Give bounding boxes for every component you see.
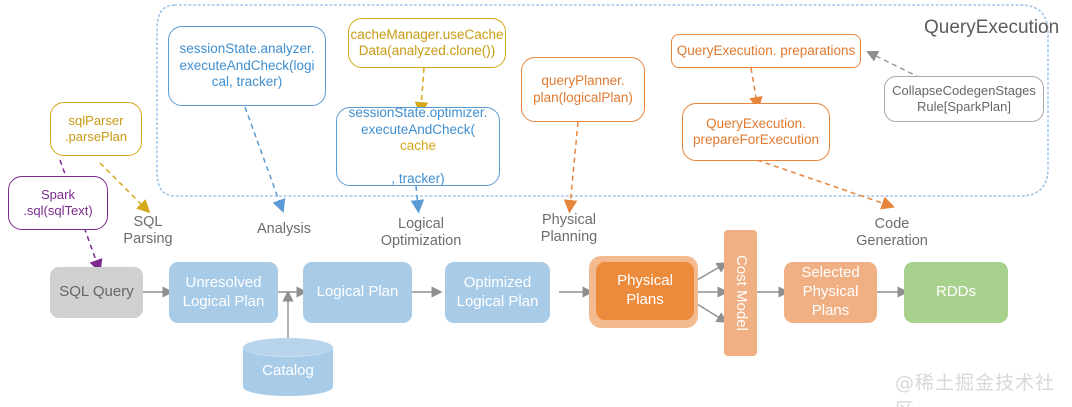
pipeline-box-selected-physical-plans-label: SelectedPhysicalPlans (801, 264, 859, 320)
pipeline-box-selected-physical-plans[interactable]: SelectedPhysicalPlans (784, 262, 877, 323)
catalog-cylinder-bottom (243, 378, 333, 396)
optimizer-callout[interactable]: sessionState.optimizer.executeAndCheck(c… (336, 107, 500, 186)
analyzer-callout-text: sessionState.analyzer.executeAndCheck(lo… (175, 41, 318, 90)
analyzer-callout[interactable]: sessionState.analyzer.executeAndCheck(lo… (168, 26, 326, 106)
pipeline-box-physical-plans[interactable]: PhysicalPlans (596, 262, 694, 320)
prepare-for-execution-callout[interactable]: QueryExecution.prepareForExecution (682, 103, 830, 161)
prepare-for-execution-callout-text: QueryExecution.prepareForExecution (689, 116, 823, 149)
pipeline-box-physical-plans-label: PhysicalPlans (617, 272, 673, 310)
query-execution-group-title: QueryExecution (924, 17, 1059, 39)
sql-parser-callout-text: sqlParser.parsePlan (61, 113, 131, 145)
catalog-label: Catalog (243, 362, 333, 379)
pipeline-box-rdds-label: RDDs (936, 283, 976, 302)
pipeline-box-logical-plan[interactable]: Logical Plan (303, 262, 412, 323)
pipeline-box-sql-query[interactable]: SQL Query (50, 267, 143, 318)
stage-label-physical-planning: PhysicalPlanning (526, 212, 612, 247)
pipeline-box-cost-model-label: Cost Model (731, 255, 750, 331)
spark-sql-callout-text: Spark.sql(sqlText) (19, 187, 96, 219)
stage-label-logical-optimization: LogicalOptimization (373, 216, 469, 251)
pipeline-box-optimized-logical-plan-label: OptimizedLogical Plan (457, 274, 539, 312)
cache-manager-callout-text: cacheManager.useCacheData(analyzed.clone… (346, 27, 507, 60)
pipeline-box-unresolved-logical-plan-label: UnresolvedLogical Plan (183, 274, 265, 312)
spark-sql-callout[interactable]: Spark.sql(sqlText) (8, 176, 108, 230)
catalog-cylinder-top (243, 338, 333, 357)
cache-manager-callout[interactable]: cacheManager.useCacheData(analyzed.clone… (348, 18, 506, 68)
preparations-callout[interactable]: QueryExecution. preparations (671, 34, 861, 68)
pipeline-box-cost-model[interactable]: Cost Model (724, 230, 757, 356)
catalog-cylinder[interactable]: Catalog (243, 338, 333, 396)
pipeline-box-logical-plan-label: Logical Plan (317, 283, 399, 302)
watermark: @稀土掘金技术社区 (895, 368, 1072, 407)
optimizer-callout-text: sessionState.optimizer.executeAndCheck(c… (345, 105, 492, 187)
diagram-canvas: QueryExecution Spark.sql(sqlText) sqlPar… (0, 0, 1072, 407)
pipeline-box-unresolved-logical-plan[interactable]: UnresolvedLogical Plan (169, 262, 278, 323)
stage-label-code-generation: CodeGeneration (848, 216, 936, 251)
stage-label-analysis: Analysis (251, 221, 317, 238)
query-planner-callout[interactable]: queryPlanner.plan(logicalPlan) (521, 57, 645, 122)
collapse-codegen-callout[interactable]: CollapseCodegenStagesRule[SparkPlan] (884, 76, 1044, 122)
sql-parser-callout[interactable]: sqlParser.parsePlan (50, 102, 142, 156)
pipeline-box-optimized-logical-plan[interactable]: OptimizedLogical Plan (445, 262, 550, 323)
pipeline-box-rdds[interactable]: RDDs (904, 262, 1008, 323)
preparations-callout-text: QueryExecution. preparations (673, 43, 860, 59)
pipeline-box-sql-query-label: SQL Query (59, 283, 133, 302)
collapse-codegen-callout-text: CollapseCodegenStagesRule[SparkPlan] (888, 83, 1040, 115)
stage-label-sql-parsing: SQLParsing (116, 214, 180, 249)
query-planner-callout-text: queryPlanner.plan(logicalPlan) (529, 73, 637, 106)
